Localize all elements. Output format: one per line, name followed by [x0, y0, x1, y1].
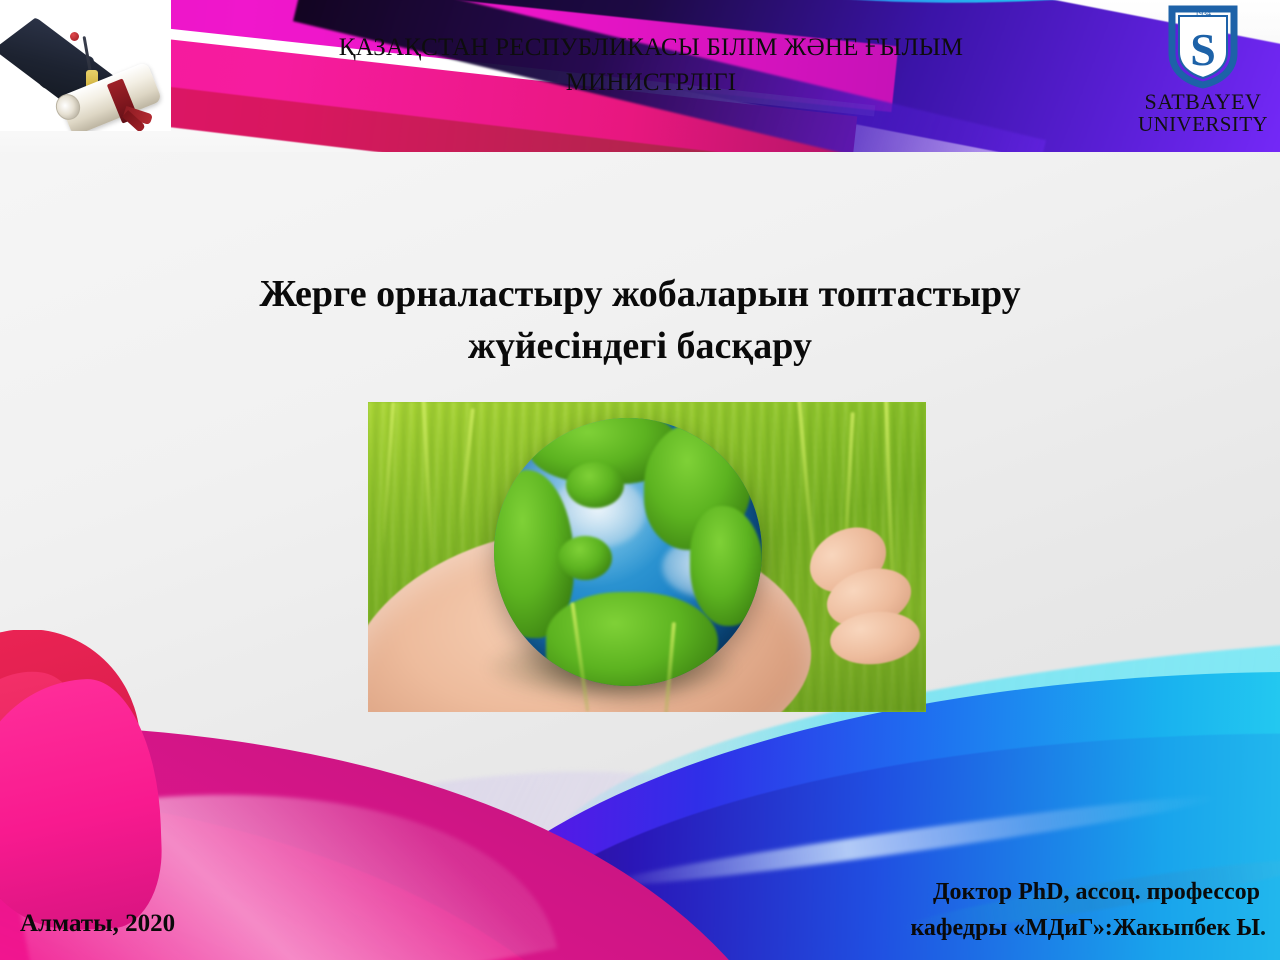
globe-moss-landmass	[690, 506, 762, 626]
author-credit-block: Доктор PhD, ассоц. профессор кафедры «МД…	[826, 874, 1266, 946]
graduation-cap-image	[0, 0, 171, 131]
globe-moss-landmass	[558, 536, 612, 580]
logo-text-university: UNIVERSITY	[1130, 113, 1276, 136]
author-title-line: Доктор PhD, ассоц. профессор	[826, 874, 1266, 910]
footer-pink-loop	[0, 677, 164, 933]
author-name-line: кафедры «МДиГ»:Жакыпбек Ы.	[826, 910, 1266, 946]
logo-text-satbayev: SATBAYEV	[1130, 90, 1276, 113]
presentation-slide: ҚАЗАҚСТАН РЕСПУБЛИКАСЫ БІЛІМ ЖӘНЕ ҒЫЛЫМ …	[0, 0, 1280, 960]
city-and-year-label: Алматы, 2020	[20, 910, 175, 938]
cap-button	[70, 32, 79, 41]
mortarboard-cap-icon	[10, 18, 140, 131]
svg-text:S: S	[1190, 24, 1216, 75]
shield-icon: 1934 S	[1130, 2, 1276, 90]
slide-title: Жерге орналастыру жобаларын топтастыру ж…	[180, 268, 1100, 372]
svg-text:1934: 1934	[1195, 9, 1211, 18]
ministry-header-text: ҚАЗАҚСТАН РЕСПУБЛИКАСЫ БІЛІМ ЖӘНЕ ҒЫЛЫМ …	[266, 30, 1036, 100]
green-earth-globe-icon	[494, 418, 762, 686]
satbayev-university-logo: 1934 S SATBAYEV UNIVERSITY	[1130, 2, 1276, 136]
globe-in-hand-photo	[368, 402, 926, 712]
globe-moss-landmass	[566, 462, 624, 508]
